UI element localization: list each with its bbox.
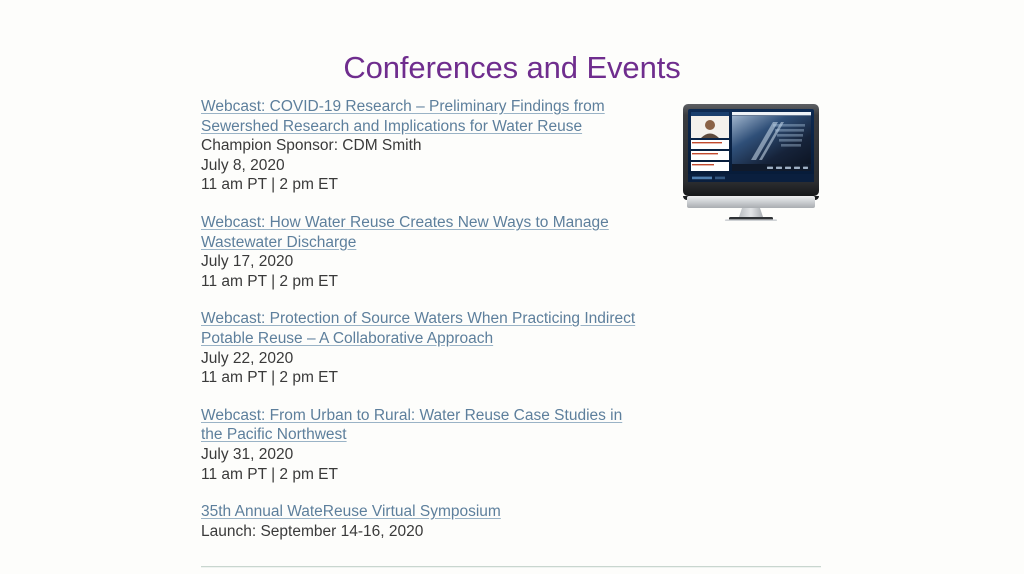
event-time: 11 am PT | 2 pm ET (201, 368, 671, 388)
event-item: Webcast: Protection of Source Waters Whe… (201, 309, 671, 387)
event-title-line-2: Potable Reuse – A Collaborative Approach (201, 330, 493, 347)
event-time: 11 am PT | 2 pm ET (201, 465, 671, 485)
event-date: July 8, 2020 (201, 156, 671, 176)
event-title-link[interactable]: 35th Annual WateReuse Virtual Symposium (201, 502, 671, 522)
event-title-link[interactable]: Webcast: Protection of Source Waters Whe… (201, 309, 671, 348)
event-sponsor: Champion Sponsor: CDM Smith (201, 136, 671, 156)
page-title: Conferences and Events (0, 49, 1024, 86)
event-title-line-1: Webcast: Protection of Source Waters Whe… (201, 310, 635, 327)
event-item: Webcast: How Water Reuse Creates New Way… (201, 213, 671, 291)
event-date: July 31, 2020 (201, 445, 671, 465)
event-title-line-2: Sewershed Research and Implications for … (201, 118, 582, 135)
event-date: Launch: September 14-16, 2020 (201, 522, 671, 542)
event-item: 35th Annual WateReuse Virtual Symposium … (201, 502, 671, 541)
section-divider (201, 566, 821, 568)
event-date: July 17, 2020 (201, 252, 671, 272)
page-root: Conferences and Events Webcast: COVID-19… (0, 0, 1024, 574)
event-title-line-1: Webcast: From Urban to Rural: Water Reus… (201, 407, 622, 424)
event-title-link[interactable]: Webcast: From Urban to Rural: Water Reus… (201, 406, 671, 445)
event-date: July 22, 2020 (201, 349, 671, 369)
event-title-line-2: Wastewater Discharge (201, 234, 356, 251)
event-title-link[interactable]: Webcast: How Water Reuse Creates New Way… (201, 213, 671, 252)
event-title-line-1: Webcast: How Water Reuse Creates New Way… (201, 214, 609, 231)
event-time: 11 am PT | 2 pm ET (201, 175, 671, 195)
desktop-monitor-webcast-image (681, 100, 821, 222)
event-title-line-1: Webcast: COVID-19 Research – Preliminary… (201, 98, 605, 115)
event-title-line-1: 35th Annual WateReuse Virtual Symposium (201, 503, 501, 520)
event-title-line-2: the Pacific Northwest (201, 426, 347, 443)
event-title-link[interactable]: Webcast: COVID-19 Research – Preliminary… (201, 97, 671, 136)
event-item: Webcast: COVID-19 Research – Preliminary… (201, 97, 671, 195)
events-list: Webcast: COVID-19 Research – Preliminary… (201, 97, 671, 541)
event-time: 11 am PT | 2 pm ET (201, 272, 671, 292)
event-item: Webcast: From Urban to Rural: Water Reus… (201, 406, 671, 484)
